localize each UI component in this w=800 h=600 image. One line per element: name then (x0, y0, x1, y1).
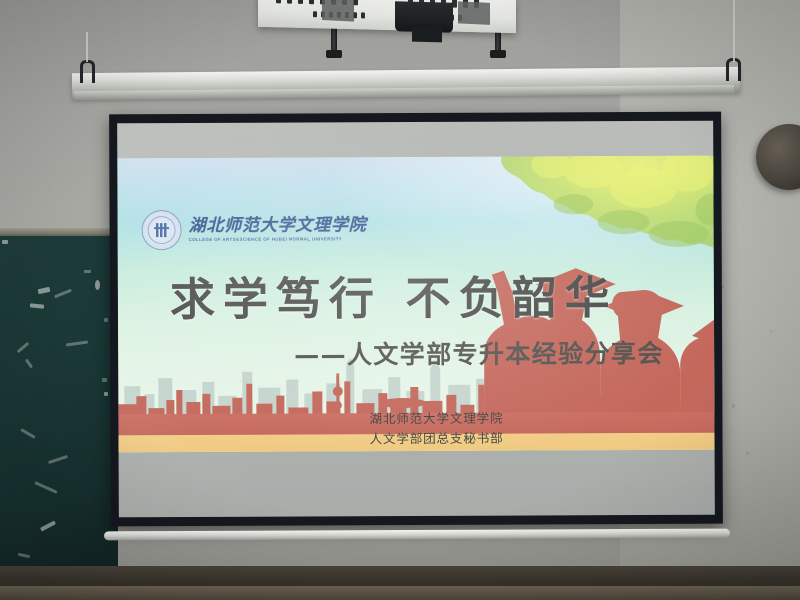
screen-surface: 湖北师范大学文理学院 COLLEGE OF ARTS&SCIENCE OF HU… (117, 121, 715, 518)
projector-mount-foot-left (326, 50, 342, 58)
projector-mount-foot-right (490, 50, 506, 58)
screen-hanging-cord[interactable] (733, 0, 735, 62)
slide-credits: 湖北师范大学文理学院 人文学部团总支秘书部 2024年11月6日 (336, 408, 536, 452)
projected-slide: 湖北师范大学文理学院 COLLEGE OF ARTS&SCIENCE OF HU… (117, 156, 714, 453)
slide-title: 求学笃行 不负韶华 (170, 261, 618, 328)
screen-pull-cord[interactable] (86, 32, 88, 62)
ledge-front-edge (0, 586, 800, 600)
classroom-photo: 湖北师范大学文理学院 COLLEGE OF ARTS&SCIENCE OF HU… (0, 0, 800, 600)
credits-line-1: 湖北师范大学文理学院 (336, 408, 536, 429)
university-seal-icon (142, 210, 182, 250)
credits-line-2: 人文学部团总支秘书部 (336, 428, 536, 449)
projector-lens-hood (412, 28, 442, 43)
credits-date: 2024年11月6日 (337, 448, 537, 452)
screen-hook-left (80, 60, 95, 83)
logo-chinese-name: 湖北师范大学文理学院 (189, 217, 367, 235)
slide-subtitle: ——人文学部专升本经验分享会 (294, 334, 664, 372)
projection-screen[interactable]: 湖北师范大学文理学院 COLLEGE OF ARTS&SCIENCE OF HU… (109, 112, 723, 527)
blackboard (0, 236, 118, 600)
university-logo: 湖北师范大学文理学院 COLLEGE OF ARTS&SCIENCE OF HU… (142, 209, 367, 250)
seal-glyph-icon (154, 223, 169, 237)
logo-english-name: COLLEGE OF ARTS&SCIENCE OF HUBEI NORMAL … (189, 237, 367, 242)
